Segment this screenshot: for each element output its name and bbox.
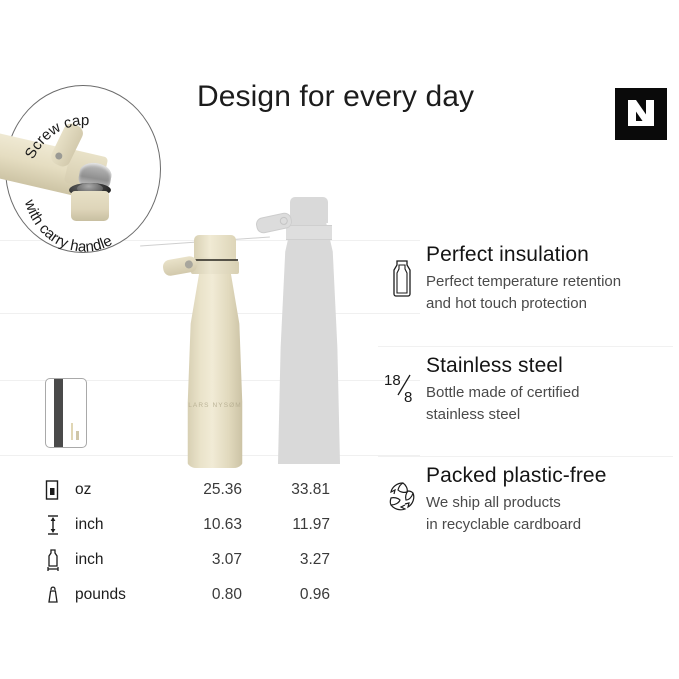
card-magnetic-stripe <box>54 379 63 447</box>
brand-logo <box>615 88 667 140</box>
feature-description-line: Bottle made of certified <box>426 382 579 403</box>
beige-bottle: LARS NYSØM <box>160 232 270 464</box>
feature-perfect-insulation: Perfect insulation Perfect temperature r… <box>378 236 673 346</box>
feature-description-line: We ship all products <box>426 492 606 513</box>
steel-denominator: 8 <box>404 389 412 406</box>
beige-handle-rivet <box>184 260 193 269</box>
credit-card-reference <box>45 378 87 448</box>
spec-unit: inch <box>75 551 160 569</box>
spec-value-small: 10.63 <box>160 516 248 534</box>
callout-top-label: Screw cap <box>22 112 90 162</box>
callout-bottom-label: with carry handle <box>20 197 114 255</box>
table-row: oz 25.36 33.81 <box>45 472 345 507</box>
spec-value-small: 3.07 <box>160 551 248 569</box>
card-mark <box>76 431 79 440</box>
spec-value-small: 25.36 <box>160 481 248 499</box>
infographic-canvas: Design for every day <box>0 0 679 679</box>
spec-value-small: 0.80 <box>160 586 248 604</box>
recycle-leaf-icon <box>378 457 426 515</box>
feature-description: Bottle made of certified stainless steel <box>426 382 579 425</box>
table-row: inch 3.07 3.27 <box>45 542 345 577</box>
feature-title: Packed plastic-free <box>426 463 606 489</box>
beige-bottle-collar <box>191 261 239 274</box>
spec-unit: inch <box>75 516 160 534</box>
eighteen-eight-steel-icon: 18 8 <box>378 347 426 407</box>
spec-unit: oz <box>75 481 160 499</box>
spec-value-large: 11.97 <box>248 516 330 534</box>
spec-value-large: 0.96 <box>248 586 330 604</box>
feature-description-line: Perfect temperature retention <box>426 271 621 292</box>
spec-value-large: 3.27 <box>248 551 330 569</box>
feature-text: Perfect insulation Perfect temperature r… <box>426 236 621 314</box>
grey-bottle-silhouette <box>258 197 358 464</box>
callout-screw-cap: Screw cap with carry handle <box>5 85 163 255</box>
bottle-brand-label: LARS NYSØM <box>160 402 270 409</box>
table-row: inch 10.63 11.97 <box>45 507 345 542</box>
feature-description: We ship all products in recyclable cardb… <box>426 492 606 535</box>
feature-title: Perfect insulation <box>426 242 621 268</box>
spec-table: oz 25.36 33.81 inch 10.63 11.97 <box>45 472 345 612</box>
table-row: pounds 0.80 0.96 <box>45 577 345 612</box>
height-icon <box>45 514 75 536</box>
feature-description-line: stainless steel <box>426 404 579 425</box>
feature-description: Perfect temperature retention and hot to… <box>426 271 621 314</box>
grey-bottle-collar <box>286 225 332 240</box>
feature-list: Perfect insulation Perfect temperature r… <box>378 236 673 566</box>
feature-text: Packed plastic-free We ship all products… <box>426 457 606 535</box>
feature-description-line: in recyclable cardboard <box>426 514 606 535</box>
page-title: Design for every day <box>197 80 474 114</box>
spec-value-large: 33.81 <box>248 481 330 499</box>
grey-handle-rivet <box>279 216 288 225</box>
steel-numerator: 18 <box>384 372 401 389</box>
grey-bottle-body <box>276 205 342 464</box>
beige-bottle-body <box>186 262 244 468</box>
feature-text: Stainless steel Bottle made of certified… <box>426 347 579 425</box>
feature-description-line: and hot touch protection <box>426 293 621 314</box>
feature-title: Stainless steel <box>426 353 579 379</box>
feature-packed-plastic-free: Packed plastic-free We ship all products… <box>378 456 673 566</box>
spec-unit: pounds <box>75 586 160 604</box>
card-mark <box>71 423 73 440</box>
feature-stainless-steel: 18 8 Stainless steel Bottle made of cert… <box>378 346 673 456</box>
width-icon <box>45 548 75 572</box>
beige-bottle-cap <box>194 235 236 257</box>
double-wall-bottle-icon <box>378 236 426 298</box>
weight-icon <box>45 586 75 604</box>
volume-icon <box>45 480 75 500</box>
monogram-n-icon <box>628 100 654 126</box>
